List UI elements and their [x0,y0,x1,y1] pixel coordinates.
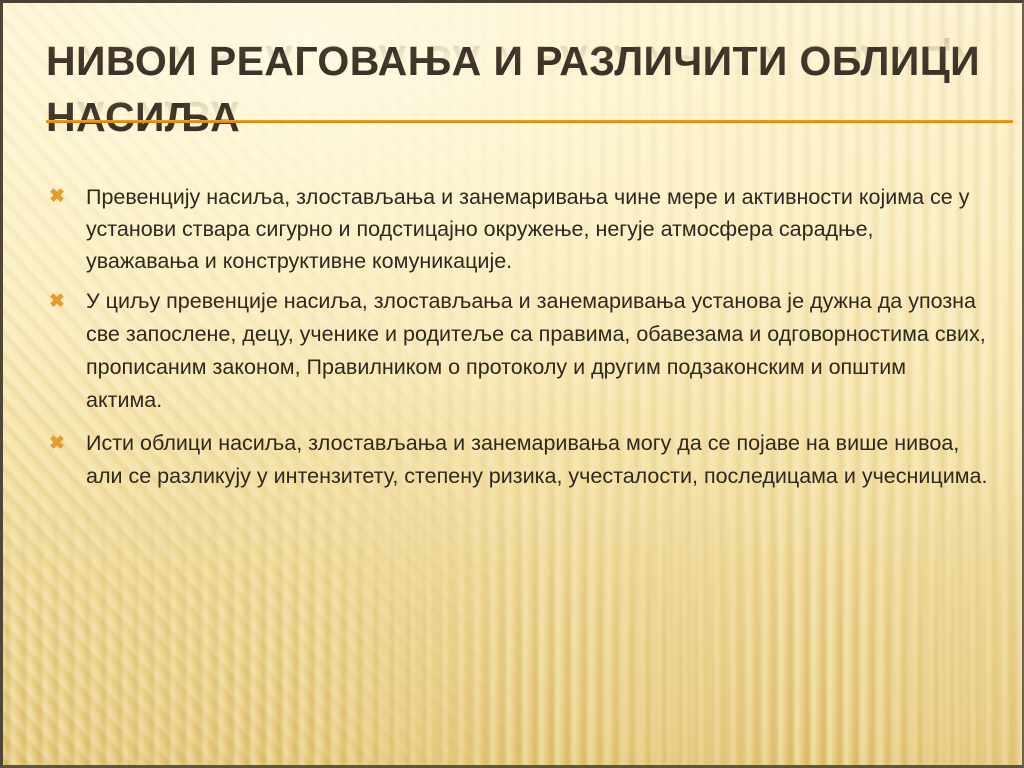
title-line-1: НИВОИ РЕАГОВАЊА И РАЗЛИЧИТИ ОБЛИЦИ НИВОИ… [46,37,976,93]
bullet-item: ✖ Исти облици насиља, злостављања и зане… [43,427,988,493]
bullet-text: У циљу превенције насиља, злостављања и … [86,285,988,417]
title-line-2-text: НАСИЉА [46,93,976,141]
slide-title: НИВОИ РЕАГОВАЊА И РАЗЛИЧИТИ ОБЛИЦИ НИВОИ… [46,37,976,149]
bullet-text: Исти облици насиља, злостављања и занема… [86,427,988,493]
presentation-slide: НИВОИ РЕАГОВАЊА И РАЗЛИЧИТИ ОБЛИЦИ НИВОИ… [0,0,1024,768]
slide-content: НИВОИ РЕАГОВАЊА И РАЗЛИЧИТИ ОБЛИЦИ НИВОИ… [3,3,1022,765]
bullet-cross-icon: ✖ [43,427,86,460]
bullet-text: Превенцију насиља, злостављања и занемар… [86,181,988,277]
bullet-cross-icon: ✖ [43,181,86,213]
bullet-cross-icon: ✖ [43,285,86,318]
title-underline-rule [46,120,1013,123]
bullet-item: ✖ Превенцију насиља, злостављања и занем… [43,181,988,277]
title-line-1-text: НИВОИ РЕАГОВАЊА И РАЗЛИЧИТИ ОБЛИЦИ [46,37,976,85]
slide-body: ✖ Превенцију насиља, злостављања и занем… [43,181,988,493]
bullet-item: ✖ У циљу превенције насиља, злостављања … [43,285,988,417]
